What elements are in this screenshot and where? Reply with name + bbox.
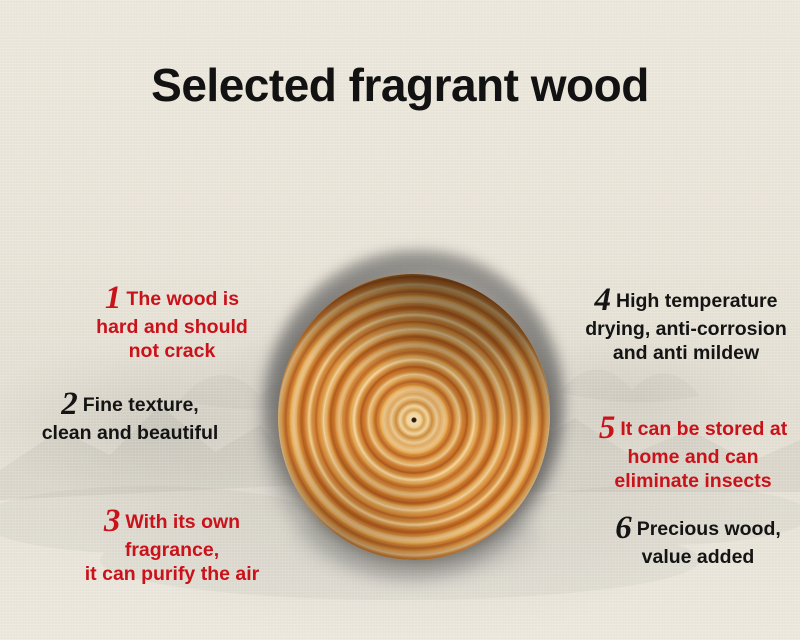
feature-number-1: 1 (105, 280, 122, 316)
feature-line-4-1: High temperature (616, 290, 777, 312)
feature-line-6-2: value added (642, 546, 755, 568)
feature-number-5: 5 (599, 410, 616, 446)
poster-canvas: Selected fragrant wood 1The wood is hard… (0, 0, 800, 640)
feature-line-2-2: clean and beautiful (42, 422, 219, 444)
feature-item-6: 6Precious wood, value added (596, 512, 800, 569)
feature-line-4-2: drying, anti-corrosion (585, 318, 787, 340)
wood-disc (278, 274, 550, 560)
feature-line-3-3: it can purify the air (85, 563, 259, 585)
feature-line-1-2: hard and should (96, 316, 248, 338)
feature-number-3: 3 (104, 503, 121, 539)
feature-line-4-3: and anti mildew (613, 342, 759, 364)
feature-line-5-2: home and can (627, 446, 758, 468)
feature-item-1: 1The wood is hard and should not crack (62, 282, 282, 363)
feature-item-4: 4High temperature drying, anti-corrosion… (572, 284, 800, 365)
feature-line-1-1: The wood is (126, 288, 239, 310)
feature-number-6: 6 (615, 510, 632, 546)
feature-line-6-1: Precious wood, (637, 518, 781, 540)
feature-line-5-1: It can be stored at (620, 418, 787, 440)
feature-number-4: 4 (595, 282, 612, 318)
feature-item-3: 3With its own fragrance, it can purify t… (52, 505, 292, 586)
feature-item-5: 5It can be stored at home and can elimin… (586, 412, 800, 493)
wood-cross-section-image (258, 248, 568, 588)
feature-line-3-1: With its own (125, 511, 240, 533)
feature-line-1-3: not crack (129, 340, 216, 362)
feature-item-2: 2Fine texture, clean and beautiful (14, 388, 246, 445)
page-title: Selected fragrant wood (0, 58, 800, 112)
feature-line-5-3: eliminate insects (614, 470, 771, 492)
feature-line-3-2: fragrance, (125, 539, 219, 561)
disc-shading (278, 274, 550, 560)
feature-number-2: 2 (61, 386, 78, 422)
feature-line-2-1: Fine texture, (83, 394, 199, 416)
